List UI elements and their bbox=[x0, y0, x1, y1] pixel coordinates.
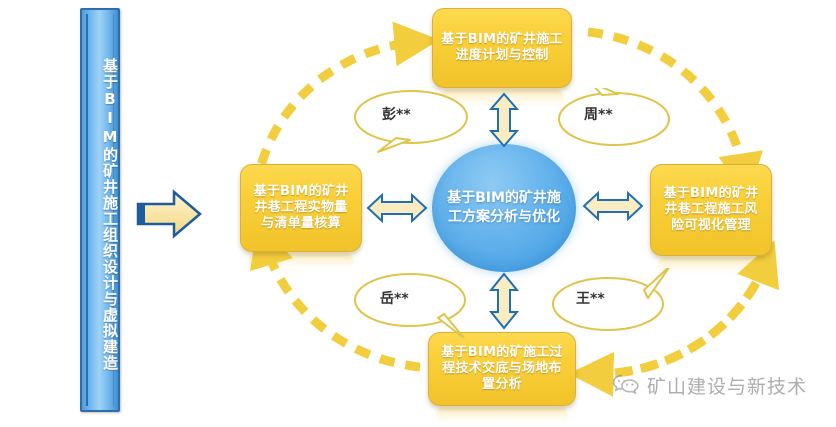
callout-label-bottom-right: 王** bbox=[576, 288, 605, 308]
watermark: 矿山建设与新技术 bbox=[612, 372, 807, 399]
watermark-text: 矿山建设与新技术 bbox=[647, 372, 807, 399]
node-risk-visualization[interactable]: 基于BIM的矿井井巷工程施工风险可视化管理 bbox=[650, 164, 772, 256]
diagram-canvas: 基于BIM的矿井施工组织设计与虚拟建造 bbox=[0, 0, 836, 427]
node-schedule-control[interactable]: 基于BIM的矿井施工进度计划与控制 bbox=[432, 8, 572, 88]
callout-bubble-bottom-right bbox=[548, 268, 672, 338]
callout-bubble-bottom-left bbox=[352, 272, 474, 338]
callout-bubble-top-right bbox=[556, 88, 672, 150]
callout-bubble-top-left bbox=[352, 88, 470, 154]
node-reflection-left bbox=[248, 253, 354, 269]
node-technical-disclosure[interactable]: 基于BIM的矿施工过程技术交底与场地布置分析 bbox=[428, 332, 576, 406]
double-headed-arrow-top bbox=[484, 92, 524, 148]
callout-label-top-right: 周** bbox=[584, 104, 613, 124]
callout-label-top-left: 彭** bbox=[382, 104, 411, 124]
callout-label-bottom-left: 岳** bbox=[380, 288, 409, 308]
double-headed-arrow-bottom bbox=[484, 272, 524, 330]
left-vertical-banner: 基于BIM的矿井施工组织设计与虚拟建造 bbox=[80, 8, 120, 412]
double-headed-arrow-left bbox=[366, 188, 428, 228]
double-headed-arrow-right bbox=[582, 186, 644, 226]
center-node-scheme-analysis[interactable]: 基于BIM的矿井施工方案分析与优化 bbox=[432, 144, 576, 272]
banner-title: 基于BIM的矿井施工组织设计与虚拟建造 bbox=[82, 44, 118, 384]
wechat-icon bbox=[612, 373, 640, 399]
node-quantity-accounting[interactable]: 基于BIM的矿井井巷工程实物量与清单量核算 bbox=[240, 164, 362, 252]
node-reflection-right bbox=[658, 257, 764, 273]
node-reflection-bottom bbox=[436, 407, 568, 423]
right-arrow-icon bbox=[136, 188, 202, 240]
